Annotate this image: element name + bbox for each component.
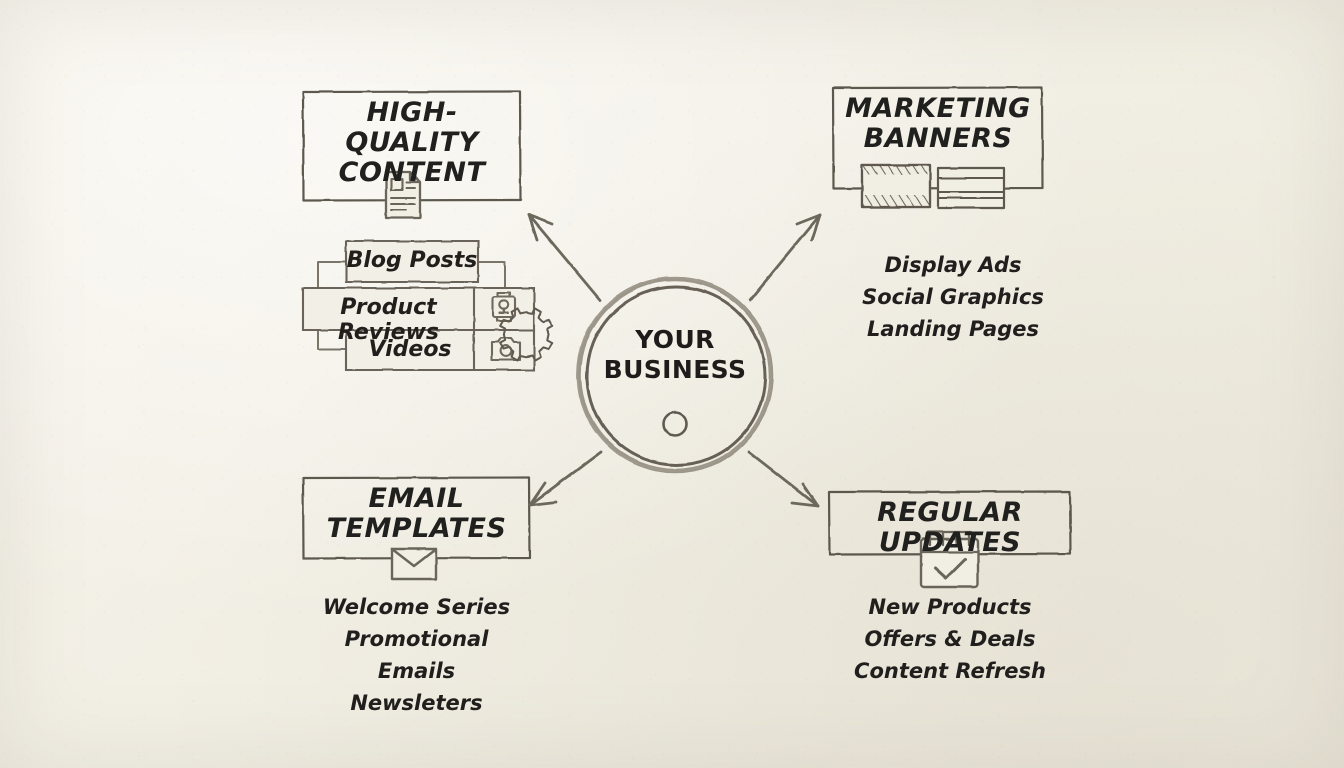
diagram-text-layer: HIGH-QUALITY CONTENT Blog Posts Product … [0, 0, 1344, 768]
core-label: YOUR BUSINESS [575, 325, 775, 385]
list-item: Content Refresh [829, 656, 1071, 688]
list-item: Welcome Series [303, 592, 530, 624]
list-item: Offers & Deals [829, 624, 1071, 656]
chip-label-videos[interactable]: Videos [346, 337, 474, 362]
list-item: Social Graphics [841, 282, 1065, 314]
banners-item-list: Display Ads Social Graphics Landing Page… [841, 250, 1065, 346]
list-item: Display Ads [841, 250, 1065, 282]
updates-item-list: New Products Offers & Deals Content Refr… [829, 592, 1071, 688]
list-item: New Products [829, 592, 1071, 624]
chip-label-blog-posts[interactable]: Blog Posts [346, 248, 478, 273]
updates-box-title: REGULAR UPDATES [829, 498, 1071, 558]
content-box-title: HIGH-QUALITY CONTENT [303, 98, 521, 189]
list-item: Newsleters [303, 688, 530, 720]
banners-box-title: MARKETING BANNERS [833, 94, 1043, 154]
email-box-title: EMAIL TEMPLATES [303, 484, 530, 544]
email-item-list: Welcome Series Promotional Emails Newsle… [303, 592, 530, 720]
list-item: Landing Pages [841, 314, 1065, 346]
list-item: Promotional Emails [303, 624, 530, 688]
